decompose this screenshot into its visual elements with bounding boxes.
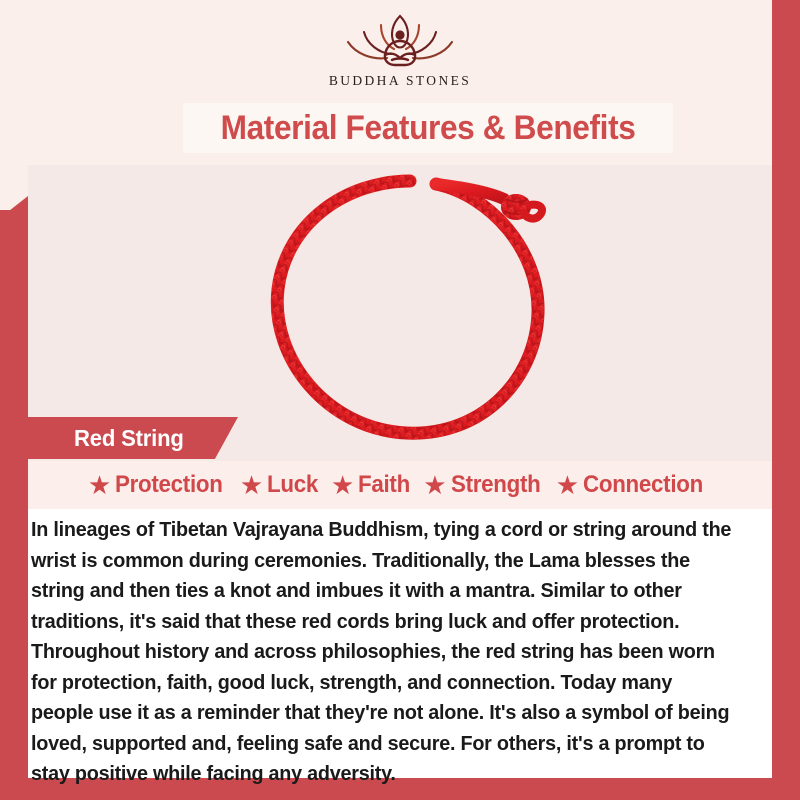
page-title: Material Features & Benefits (221, 109, 636, 148)
benefit-item: ★ Protection (88, 471, 231, 499)
lotus-meditation-icon (334, 8, 466, 72)
benefit-label: Luck (267, 471, 318, 499)
right-accent-bar (772, 0, 800, 800)
description-body: In lineages of Tibetan Vajrayana Buddhis… (31, 515, 733, 790)
brand-header: BUDDHA STONES Material Features & Benefi… (28, 0, 772, 165)
star-icon: ★ (88, 472, 111, 498)
star-icon: ★ (556, 472, 579, 498)
brand-name: BUDDHA STONES (329, 73, 471, 89)
benefit-label: Strength (451, 471, 541, 499)
section-ribbon: Red String (28, 417, 238, 459)
description-panel: In lineages of Tibetan Vajrayana Buddhis… (28, 509, 772, 778)
brand-logo: BUDDHA STONES (28, 8, 772, 89)
red-string-bracelet-image (250, 171, 570, 451)
star-icon: ★ (423, 472, 446, 498)
ribbon-label: Red String (74, 425, 184, 452)
benefit-item: ★ Faith (331, 471, 414, 499)
product-photo (28, 165, 772, 461)
benefit-item: ★ Luck (240, 471, 322, 499)
benefit-label: Connection (583, 471, 703, 499)
benefits-row: ★ Protection ★ Luck ★ Faith ★ Strength ★… (28, 461, 772, 509)
benefit-label: Faith (358, 471, 410, 499)
left-accent-bar (0, 210, 28, 800)
infographic-page: BUDDHA STONES Material Features & Benefi… (0, 0, 800, 800)
benefit-label: Protection (115, 471, 223, 499)
benefit-item: ★ Connection (556, 471, 712, 499)
star-icon: ★ (240, 472, 263, 498)
benefit-item: ★ Strength (423, 471, 547, 499)
star-icon: ★ (331, 472, 354, 498)
title-plate: Material Features & Benefits (183, 103, 673, 153)
